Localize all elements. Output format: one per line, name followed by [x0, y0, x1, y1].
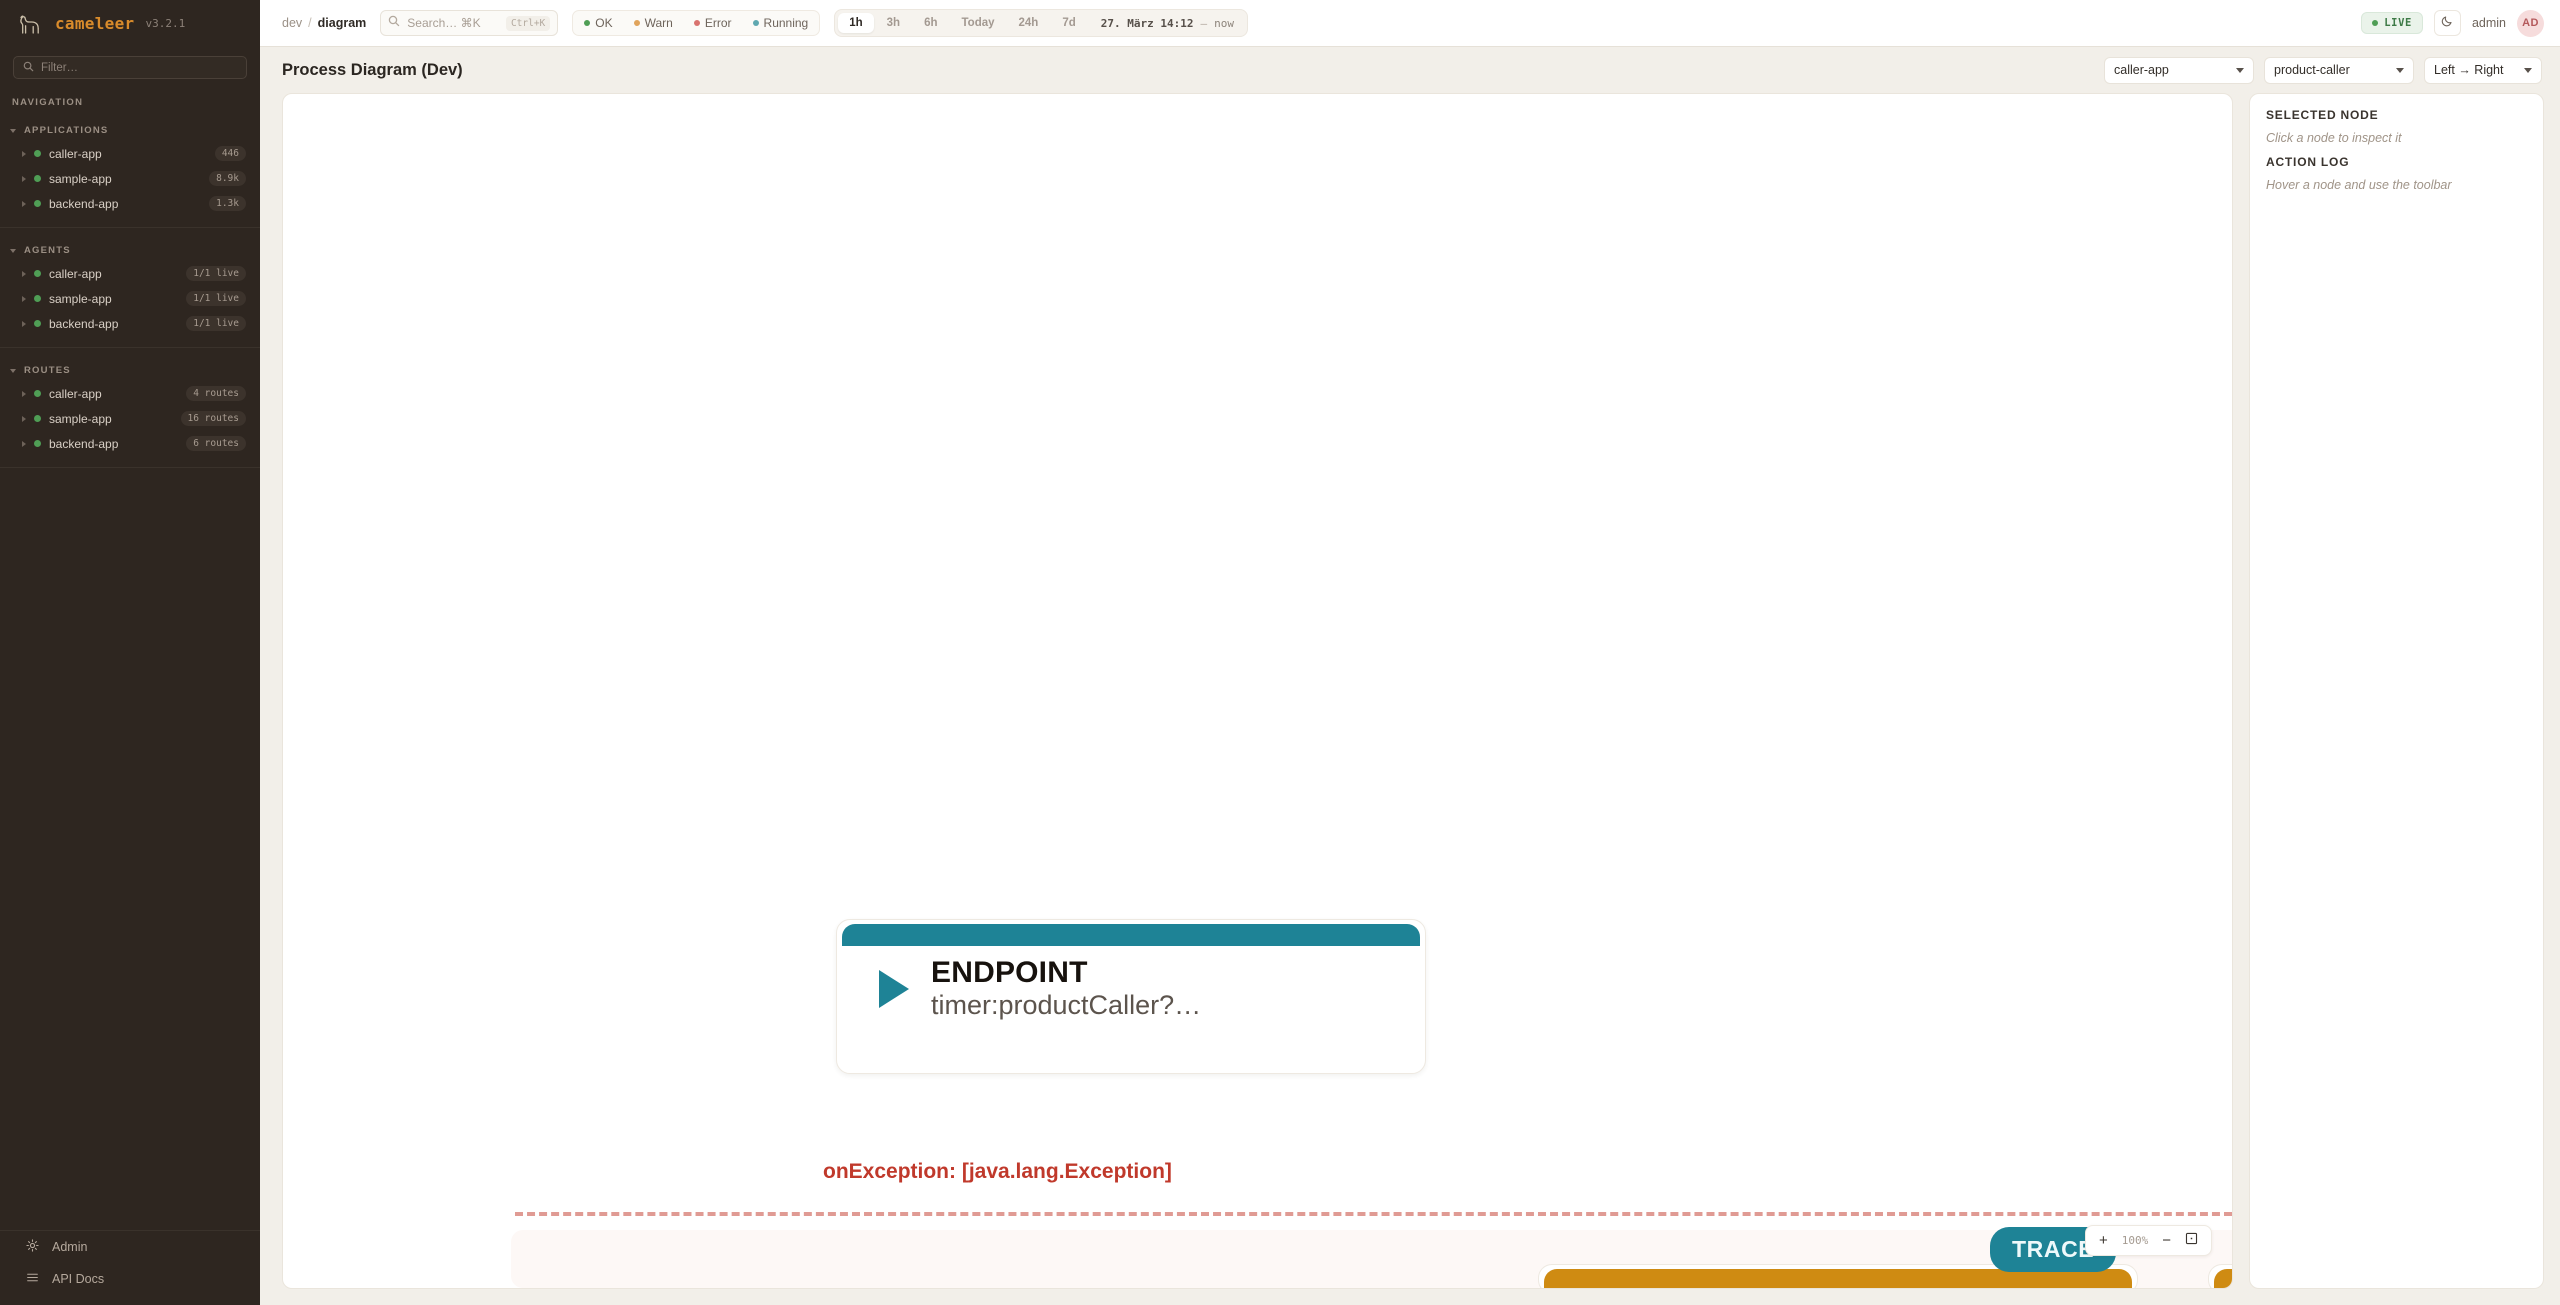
chip-label: Warn [645, 16, 673, 30]
action-log-title: ACTION LOG [2266, 155, 2527, 169]
zoom-in-button[interactable]: + [2099, 1233, 2108, 1248]
range-dash: — [1200, 17, 1207, 30]
sidebar-footer-label: Admin [52, 1240, 87, 1254]
sidebar-footer-label: API Docs [52, 1272, 104, 1286]
search-placeholder: Search… ⌘K [407, 16, 499, 30]
range-6h[interactable]: 6h [913, 13, 948, 33]
group-label: ROUTES [24, 365, 71, 376]
sidebar-item-applications-sample-app[interactable]: sample-app 8.9k [0, 166, 260, 191]
status-dot [34, 270, 41, 277]
diagram-node-process-2[interactable] [2208, 1264, 2233, 1289]
chevron-down-icon [2524, 68, 2532, 73]
page-header: Process Diagram (Dev) caller-app product… [260, 47, 2560, 93]
sidebar-item-routes-sample-app[interactable]: sample-app 16 routes [0, 406, 260, 431]
sidebar-group-routes: ROUTES caller-app 4 routes sample-app 16… [0, 348, 260, 456]
status-dot [34, 415, 41, 422]
time-range-selector: 1h 3h 6h Today 24h 7d 27. März 14:12 — n… [834, 9, 1248, 37]
sidebar-item-agents-caller-app[interactable]: caller-app 1/1 live [0, 261, 260, 286]
sidebar-item-routes-caller-app[interactable]: caller-app 4 routes [0, 381, 260, 406]
chip-label: Error [705, 16, 732, 30]
direction-select-value: Left → Right [2434, 63, 2514, 77]
page-header-controls: caller-app product-caller Left → Right [2104, 57, 2542, 84]
filter-box[interactable] [13, 56, 247, 79]
sidebar-item-agents-backend-app[interactable]: backend-app 1/1 live [0, 311, 260, 336]
search-icon [23, 59, 34, 77]
live-label: LIVE [2384, 17, 2412, 29]
item-badge: 1/1 live [186, 266, 246, 281]
status-chip-ok[interactable]: OK [575, 13, 621, 33]
node-header-bar [842, 924, 1420, 946]
brand[interactable]: cameleer v3.2.1 [0, 0, 260, 47]
diagram-node-endpoint[interactable]: ENDPOINT timer:productCaller?… [836, 919, 1426, 1074]
item-badge: 6 routes [186, 436, 246, 451]
item-badge: 4 routes [186, 386, 246, 401]
chevron-right-icon [22, 321, 26, 327]
sidebar-filter [0, 47, 260, 79]
item-label: sample-app [49, 292, 178, 306]
breadcrumb-current: diagram [318, 16, 367, 30]
chip-label: OK [595, 16, 612, 30]
topbar-right: LIVE admin AD [2361, 10, 2544, 37]
fit-to-screen-icon[interactable] [2185, 1232, 2198, 1250]
breadcrumb-root[interactable]: dev [282, 16, 302, 30]
camel-icon [18, 13, 44, 35]
inspector-panel: SELECTED NODE Click a node to inspect it… [2249, 93, 2544, 1289]
chevron-down-icon [2236, 68, 2244, 73]
avatar-initials: AD [2522, 17, 2539, 29]
status-dot [34, 175, 41, 182]
chevron-down-icon [10, 249, 16, 253]
range-1h[interactable]: 1h [838, 13, 873, 33]
node-header-bar [1544, 1269, 2132, 1289]
play-icon [879, 970, 909, 1008]
item-label: caller-app [49, 267, 178, 281]
global-search[interactable]: Search… ⌘K Ctrl+K [380, 10, 558, 36]
search-icon [388, 14, 400, 32]
sidebar-group-applications: APPLICATIONS caller-app 446 sample-app 8… [0, 108, 260, 216]
avatar[interactable]: AD [2517, 10, 2544, 37]
chevron-right-icon [22, 441, 26, 447]
filter-input[interactable] [41, 62, 237, 74]
sidebar-spacer [0, 468, 260, 1219]
page-title: Process Diagram (Dev) [282, 61, 463, 80]
breadcrumb-separator: / [308, 16, 311, 30]
brand-version: v3.2.1 [145, 17, 185, 30]
topbar: dev / diagram Search… ⌘K Ctrl+K OK War [260, 0, 2560, 47]
range-to: now [1214, 17, 1234, 30]
sidebar-item-applications-backend-app[interactable]: backend-app 1.3k [0, 191, 260, 216]
item-label: caller-app [49, 387, 178, 401]
chevron-right-icon [22, 416, 26, 422]
theme-toggle-button[interactable] [2434, 10, 2461, 36]
group-header-routes[interactable]: ROUTES [0, 360, 260, 381]
item-label: backend-app [49, 317, 178, 331]
item-badge: 446 [215, 146, 246, 161]
route-select-value: product-caller [2274, 63, 2386, 77]
item-label: sample-app [49, 172, 201, 186]
sidebar-item-applications-caller-app[interactable]: caller-app 446 [0, 141, 260, 166]
item-badge: 16 routes [181, 411, 246, 426]
status-chip-warn[interactable]: Warn [625, 13, 682, 33]
chevron-right-icon [22, 296, 26, 302]
item-label: caller-app [49, 147, 207, 161]
zoom-level-value: 100% [2122, 1234, 2149, 1247]
moon-icon [2441, 14, 2454, 32]
chevron-right-icon [22, 176, 26, 182]
live-badge[interactable]: LIVE [2361, 12, 2423, 34]
node-uri-label: timer:productCaller?… [931, 990, 1201, 1022]
direction-select[interactable]: Left → Right [2424, 57, 2542, 84]
brand-name: cameleer [55, 14, 134, 33]
route-select[interactable]: product-caller [2264, 57, 2414, 84]
app-select[interactable]: caller-app [2104, 57, 2254, 84]
main-area: dev / diagram Search… ⌘K Ctrl+K OK War [260, 0, 2560, 1305]
exception-handler-label: onException: [java.lang.Exception] [823, 1160, 1172, 1184]
chevron-down-icon [10, 129, 16, 133]
item-label: sample-app [49, 412, 173, 426]
chip-label: Running [764, 16, 809, 30]
selected-node-title: SELECTED NODE [2266, 108, 2527, 122]
status-dot [34, 390, 41, 397]
group-label: APPLICATIONS [24, 125, 108, 136]
range-today[interactable]: Today [951, 13, 1006, 33]
zoom-controls: + 100% − [2085, 1225, 2212, 1256]
status-chip-error[interactable]: Error [685, 13, 741, 33]
group-header-agents[interactable]: AGENTS [0, 240, 260, 261]
sidebar-group-agents: AGENTS caller-app 1/1 live sample-app 1/… [0, 228, 260, 336]
selected-node-empty-text: Click a node to inspect it [2266, 131, 2527, 145]
status-dot [34, 440, 41, 447]
range-24h[interactable]: 24h [1008, 13, 1050, 33]
exception-divider [515, 1212, 2232, 1216]
item-badge: 8.9k [209, 171, 246, 186]
status-filter-chips: OK Warn Error Running [572, 10, 820, 36]
sidebar-item-admin[interactable]: Admin [0, 1231, 260, 1263]
status-dot [34, 295, 41, 302]
node-kind-label: ENDPOINT [931, 956, 1201, 990]
chevron-right-icon [22, 271, 26, 277]
chevron-right-icon [22, 201, 26, 207]
item-badge: 1.3k [209, 196, 246, 211]
list-icon [26, 1271, 39, 1287]
range-time-window[interactable]: 27. März 14:12 — now [1089, 17, 1244, 30]
zoom-out-button[interactable]: − [2162, 1233, 2171, 1248]
app-select-value: caller-app [2114, 63, 2226, 77]
chevron-right-icon [22, 151, 26, 157]
user-name: admin [2472, 16, 2506, 30]
sidebar-item-agents-sample-app[interactable]: sample-app 1/1 live [0, 286, 260, 311]
status-chip-running[interactable]: Running [744, 13, 818, 33]
chevron-right-icon [22, 391, 26, 397]
status-dot [34, 320, 41, 327]
chevron-down-icon [10, 369, 16, 373]
range-7d[interactable]: 7d [1051, 13, 1086, 33]
status-dot [34, 150, 41, 157]
range-from: 27. März 14:12 [1101, 17, 1194, 30]
group-header-applications[interactable]: APPLICATIONS [0, 120, 260, 141]
breadcrumb[interactable]: dev / diagram [282, 16, 366, 30]
content-area: ENDPOINT timer:productCaller?… onExcepti… [260, 93, 2560, 1305]
sidebar-item-api-docs[interactable]: API Docs [0, 1263, 260, 1305]
app-root: cameleer v3.2.1 NAVIGATION APPLICATIONS [0, 0, 2560, 1305]
sidebar: cameleer v3.2.1 NAVIGATION APPLICATIONS [0, 0, 260, 1305]
nav-section-title: NAVIGATION [0, 79, 260, 108]
diagram-canvas[interactable]: ENDPOINT timer:productCaller?… onExcepti… [282, 93, 2233, 1289]
item-label: backend-app [49, 197, 201, 211]
status-dot [34, 200, 41, 207]
node-header-bar [2214, 1269, 2233, 1289]
chevron-down-icon [2396, 68, 2404, 73]
search-shortcut-badge: Ctrl+K [506, 16, 550, 31]
group-label: AGENTS [24, 245, 71, 256]
gear-icon [26, 1239, 39, 1255]
item-badge: 1/1 live [186, 291, 246, 306]
action-log-empty-text: Hover a node and use the toolbar [2266, 178, 2527, 192]
range-3h[interactable]: 3h [876, 13, 911, 33]
node-body: ENDPOINT timer:productCaller?… [837, 946, 1425, 1021]
item-label: backend-app [49, 437, 178, 451]
item-badge: 1/1 live [186, 316, 246, 331]
sidebar-item-routes-backend-app[interactable]: backend-app 6 routes [0, 431, 260, 456]
